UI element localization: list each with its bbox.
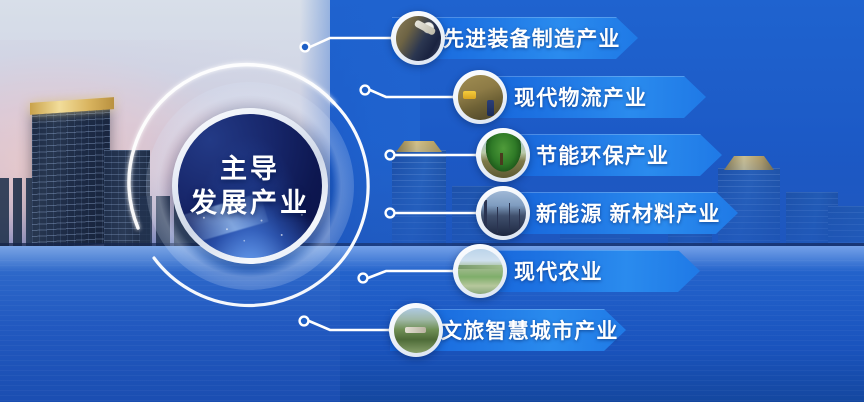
agriculture-photo-icon[interactable] — [453, 244, 507, 298]
icon-thumbnail — [481, 191, 526, 236]
icon-thumbnail — [458, 75, 503, 120]
center-title-line1: 主导 — [220, 152, 280, 186]
icon-thumbnail — [396, 16, 441, 61]
center-title: 主导 发展产业 — [178, 114, 322, 258]
icon-thumbnail — [458, 249, 503, 294]
background-hero-tower — [32, 106, 110, 248]
green-environment-photo-icon[interactable] — [476, 128, 530, 182]
industry-label: 先进装备制造产业 — [443, 23, 621, 53]
tower-facade — [32, 106, 110, 248]
industry-label: 节能环保产业 — [536, 140, 669, 170]
new-energy-photo-icon[interactable] — [476, 186, 530, 240]
infographic-canvas: 主导 发展产业 先进装备制造产业现代物流产业节能环保产业新能源 新材料产业现代农… — [0, 0, 864, 402]
machinery-photo-icon[interactable] — [391, 11, 445, 65]
center-title-line2: 发展产业 — [190, 186, 310, 220]
icon-thumbnail — [394, 308, 439, 353]
industry-label: 现代农业 — [514, 256, 603, 286]
icon-thumbnail — [481, 133, 526, 178]
industry-label: 新能源 新材料产业 — [536, 198, 721, 228]
culture-tourism-photo-icon[interactable] — [389, 303, 443, 357]
industry-label: 文旅智慧城市产业 — [441, 315, 619, 345]
logistics-photo-icon[interactable] — [453, 70, 507, 124]
industry-label: 现代物流产业 — [514, 82, 647, 112]
